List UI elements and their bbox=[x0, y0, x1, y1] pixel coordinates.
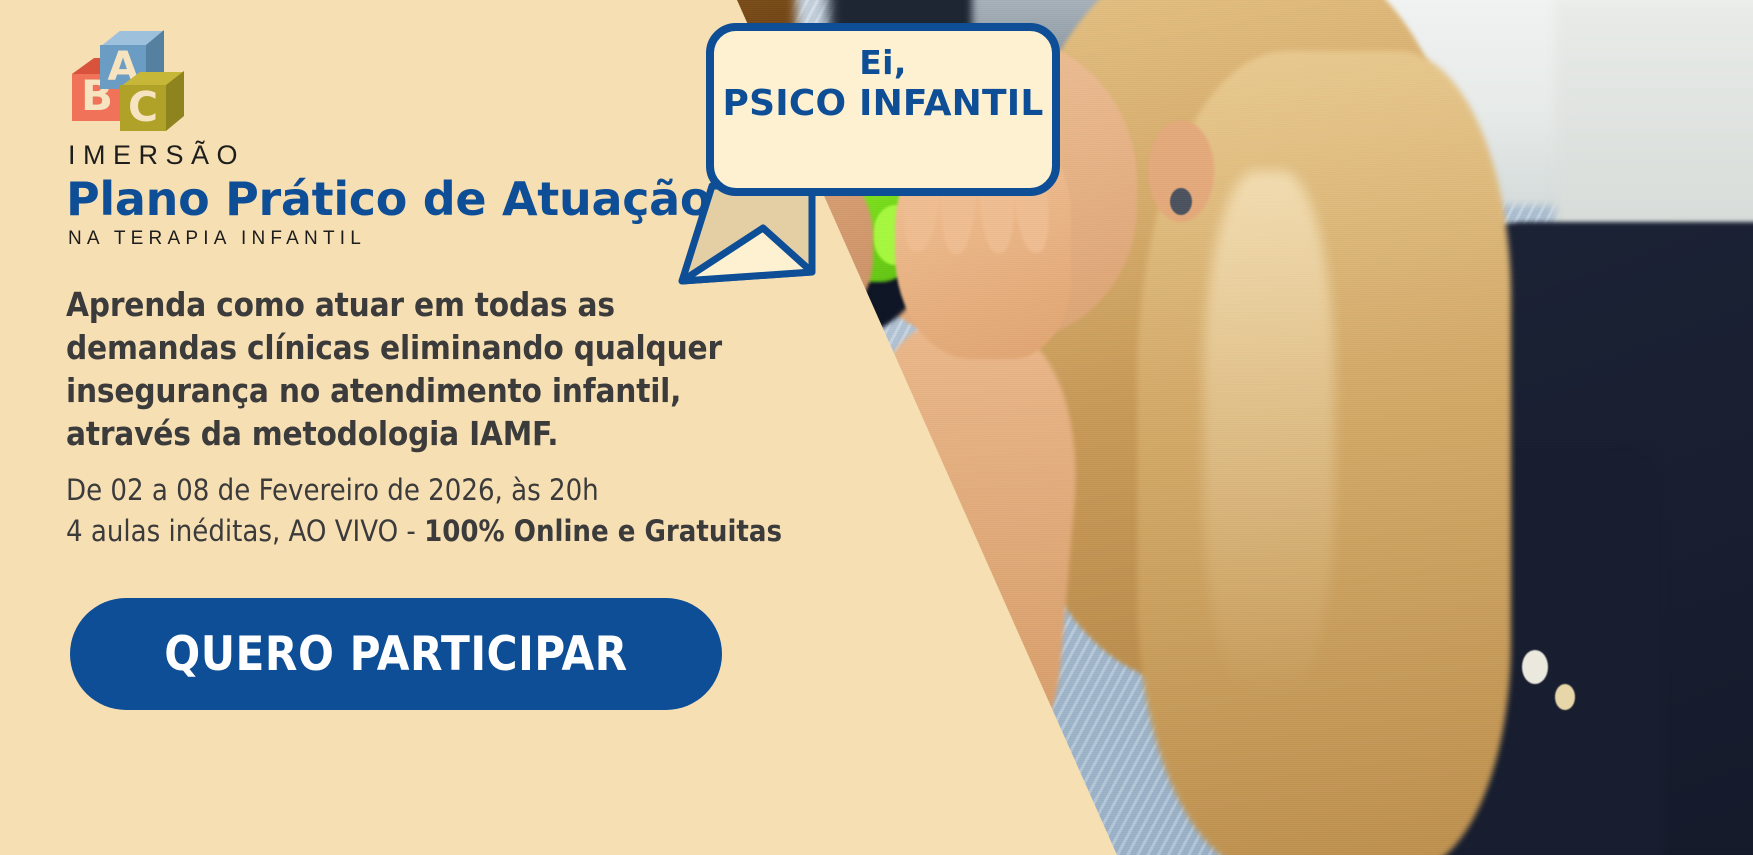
event-details: De 02 a 08 de Fevereiro de 2026, às 20h … bbox=[66, 470, 926, 552]
event-classes-line: 4 aulas inéditas, AO VIVO - 100% Online … bbox=[66, 511, 926, 552]
bubble-text: Ei, PSICO INFANTIL bbox=[712, 44, 1054, 125]
bubble-line-2: PSICO INFANTIL bbox=[712, 83, 1054, 125]
classes-highlight: 100% Online e Gratuitas bbox=[424, 514, 782, 548]
kicker-text: IMERSÃO bbox=[68, 140, 245, 171]
event-date-line: De 02 a 08 de Fevereiro de 2026, às 20h bbox=[66, 470, 926, 511]
lead-paragraph: Aprenda como atuar em todas as demandas … bbox=[66, 284, 826, 456]
lead-line-1: Aprenda como atuar em todas as bbox=[66, 284, 826, 327]
svg-text:C: C bbox=[128, 83, 158, 131]
lead-line-4: através da metodologia IAMF. bbox=[66, 413, 826, 456]
abc-blocks-icon: B A C bbox=[68, 28, 186, 140]
lead-line-2: demandas clínicas eliminando qualquer bbox=[66, 327, 826, 370]
promo-banner: B A C IMERSÃO Plano Prático de Atuação N… bbox=[0, 0, 1753, 855]
block-c: C bbox=[120, 71, 184, 131]
page-title: Plano Prático de Atuação bbox=[66, 172, 711, 226]
lead-line-3: insegurança no atendimento infantil, bbox=[66, 370, 826, 413]
classes-prefix: 4 aulas inéditas, AO VIVO - bbox=[66, 514, 424, 548]
bubble-line-1: Ei, bbox=[712, 44, 1054, 83]
subkicker-text: NA TERAPIA INFANTIL bbox=[68, 228, 366, 250]
cta-button[interactable]: QUERO PARTICIPAR bbox=[70, 598, 722, 710]
